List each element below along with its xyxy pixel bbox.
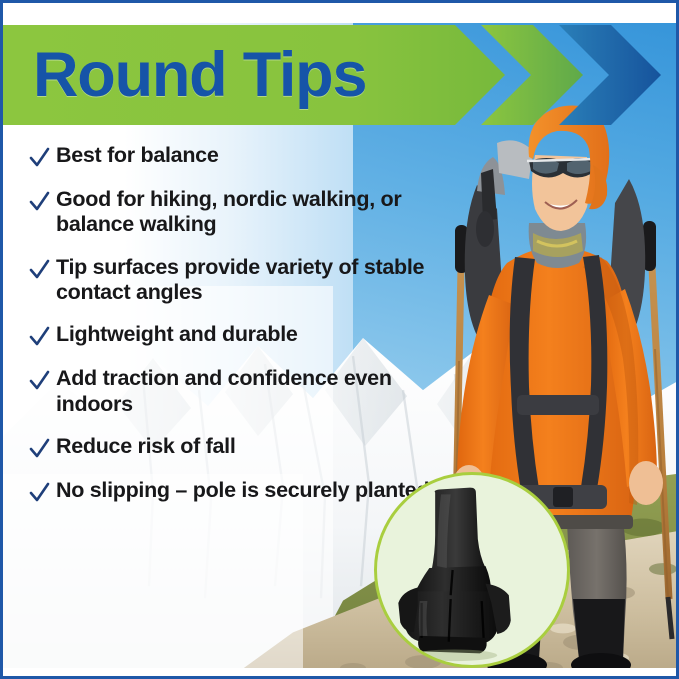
header-banner (3, 25, 676, 125)
hiker-head (527, 155, 595, 231)
check-icon (29, 258, 50, 282)
list-item: Tip surfaces provide variety of stable c… (29, 255, 459, 306)
product-inset-circle (374, 472, 570, 668)
check-icon (29, 481, 50, 505)
product-infographic-poster: Round Tips Best for balance Good for hik… (0, 0, 679, 679)
list-item: Best for balance (29, 143, 459, 170)
list-item: Reduce risk of fall (29, 434, 459, 461)
top-white-margin (3, 3, 676, 23)
list-item: Add traction and confidence even indoors (29, 366, 459, 417)
feature-text: Lightweight and durable (56, 322, 298, 347)
pole-tip-product-image (377, 475, 567, 665)
feature-text: Tip surfaces provide variety of stable c… (56, 255, 459, 306)
check-icon (29, 146, 50, 170)
check-icon (29, 325, 50, 349)
check-icon (29, 190, 50, 214)
list-item: Good for hiking, nordic walking, or bala… (29, 187, 459, 238)
check-icon (29, 369, 50, 393)
feature-text: Best for balance (56, 143, 218, 168)
list-item: Lightweight and durable (29, 322, 459, 349)
feature-list: Best for balance Good for hiking, nordic… (29, 143, 459, 505)
banner-green-bar (3, 25, 505, 125)
check-icon (29, 437, 50, 461)
feature-text: Reduce risk of fall (56, 434, 236, 459)
feature-text: Add traction and confidence even indoors (56, 366, 459, 417)
feature-text: No slipping – pole is securely planted (56, 478, 429, 503)
feature-text: Good for hiking, nordic walking, or bala… (56, 187, 459, 238)
bottom-white-margin (3, 668, 676, 676)
